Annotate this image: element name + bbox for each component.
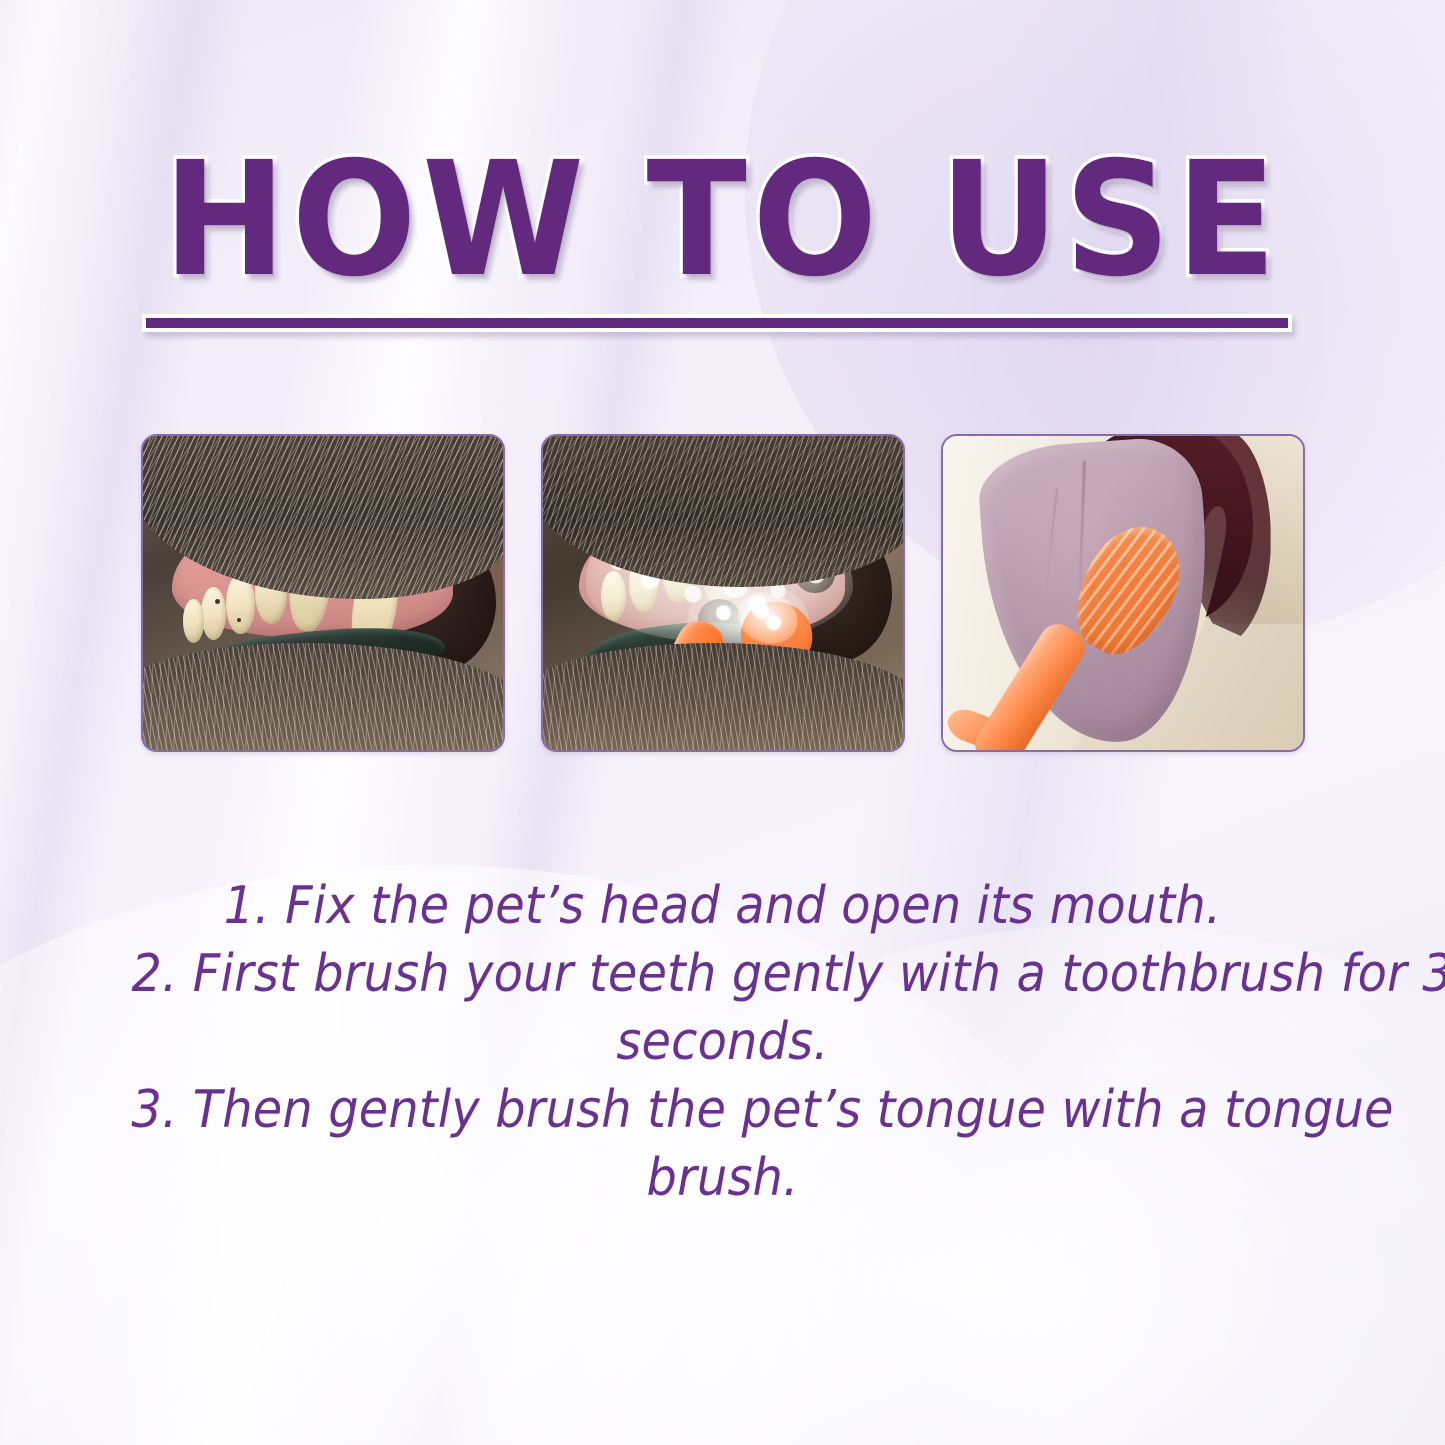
infographic-canvas: HOW TO USE xyxy=(0,0,1445,1445)
instruction-line-2: 2. First brush your teeth gently with a … xyxy=(131,940,1313,1008)
instruction-line-3-cont: brush. xyxy=(131,1144,1313,1212)
photo-1-tooth-6 xyxy=(183,599,205,643)
photo-2-content xyxy=(543,436,903,750)
photo-panel-brushing-with-foam xyxy=(541,434,905,752)
photo-3-tongue-crease-2 xyxy=(1044,488,1059,608)
photo-1-content xyxy=(143,436,503,750)
photo-panel-dog-teeth-closeup xyxy=(141,434,505,752)
photo-1-tartar-spot-2 xyxy=(237,618,241,622)
page-title: HOW TO USE xyxy=(163,140,1282,301)
page-title-wrap: HOW TO USE xyxy=(0,140,1445,301)
photo-1-lower-fur xyxy=(143,643,503,750)
title-underline-bar xyxy=(142,314,1292,332)
instruction-list: 1. Fix the pet’s head and open its mouth… xyxy=(80,872,1365,1212)
instruction-line-1: 1. Fix the pet’s head and open its mouth… xyxy=(131,872,1313,940)
photo-2-lower-fur xyxy=(543,643,903,750)
instruction-line-2-cont: seconds. xyxy=(131,1008,1313,1076)
photo-3-content xyxy=(943,436,1303,750)
photo-panel-tongue-brushing xyxy=(941,434,1305,752)
photo-strip xyxy=(141,434,1305,752)
photo-1-tooth-5 xyxy=(201,587,226,640)
instruction-line-3: 3. Then gently brush the pet’s tongue wi… xyxy=(131,1076,1313,1144)
